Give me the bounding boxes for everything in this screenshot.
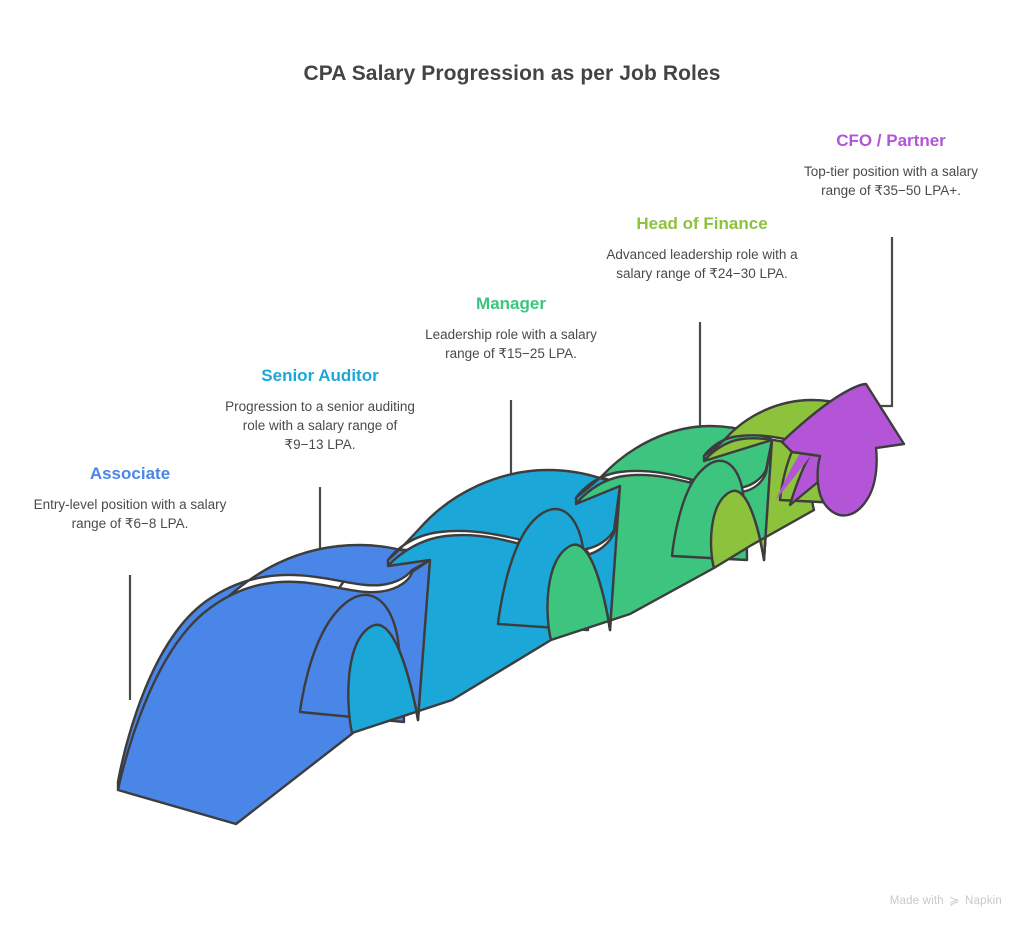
role-label-manager: Manager [414, 293, 608, 314]
role-description-manager: Leadership role with a salary range of ₹… [414, 326, 608, 363]
callout-head-of-finance: Head of Finance Advanced leadership role… [604, 213, 800, 284]
watermark-made-with-label: Made with [890, 895, 944, 907]
role-description-senior-auditor: Progression to a senior auditing role wi… [224, 398, 416, 454]
role-label-senior-auditor: Senior Auditor [224, 365, 416, 386]
callout-cfo-partner: CFO / Partner Top-tier position with a s… [794, 130, 988, 201]
role-description-head-of-finance: Advanced leadership role with a salary r… [604, 246, 800, 283]
infographic-canvas: CPA Salary Progression as per Job Roles [0, 0, 1024, 929]
connector-line-cfo-partner [866, 237, 892, 406]
callout-senior-auditor: Senior Auditor Progression to a senior a… [224, 365, 416, 454]
callout-associate: Associate Entry-level position with a sa… [32, 463, 228, 534]
role-description-cfo-partner: Top-tier position with a salary range of… [794, 163, 988, 200]
watermark-brand-label: Napkin [965, 895, 1002, 907]
role-label-head-of-finance: Head of Finance [604, 213, 800, 234]
role-label-associate: Associate [32, 463, 228, 484]
callout-manager: Manager Leadership role with a salary ra… [414, 293, 608, 364]
napkin-logo-icon: ≽ [949, 894, 960, 907]
role-label-cfo-partner: CFO / Partner [794, 130, 988, 151]
role-description-associate: Entry-level position with a salary range… [32, 496, 228, 533]
napkin-watermark: Made with ≽ Napkin [890, 894, 1002, 907]
